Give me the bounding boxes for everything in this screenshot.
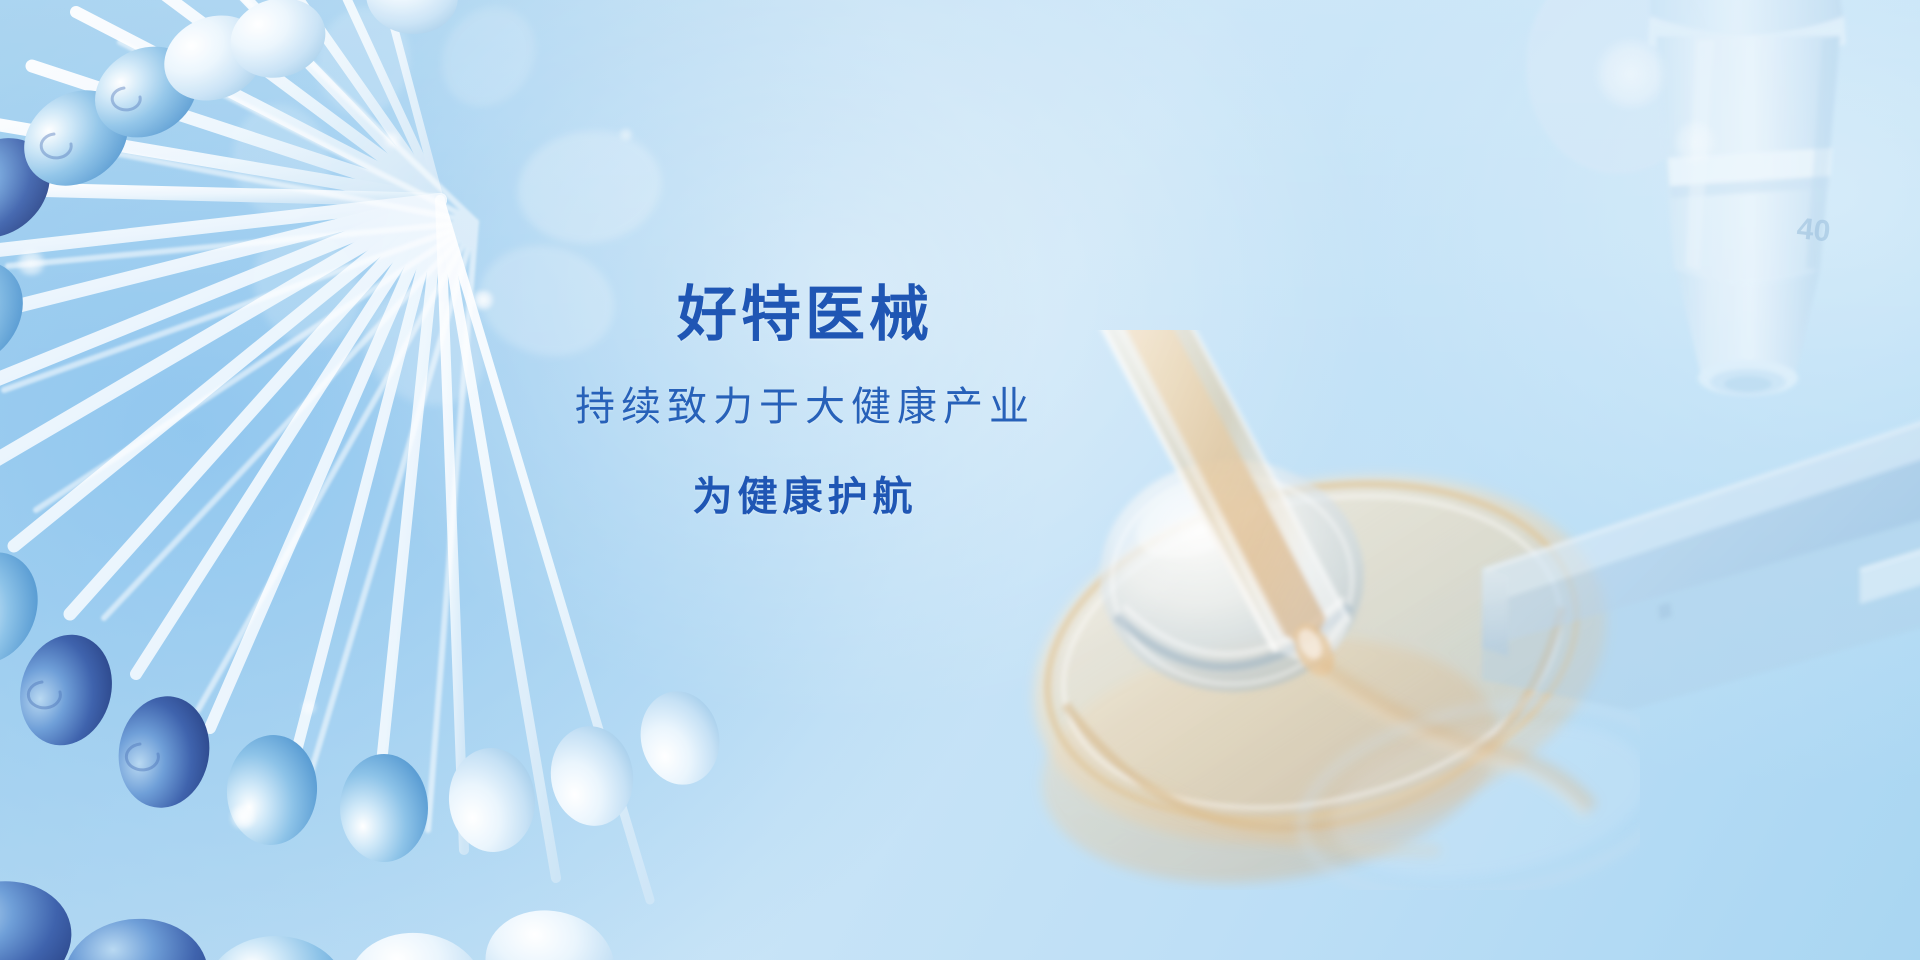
hero-text-block: 好特医械 持续致力于大健康产业 为健康护航 <box>0 280 1610 521</box>
dna-helix-icon <box>0 0 880 960</box>
hero-banner: 40 <box>0 0 1920 960</box>
light-wash-overlay <box>0 0 1920 960</box>
lab-stage-icon <box>1390 380 1920 850</box>
hero-tagline: 为健康护航 <box>0 473 1610 521</box>
bokeh-dot <box>470 290 496 310</box>
bokeh-dot <box>382 132 402 148</box>
bokeh-layer <box>0 0 1920 960</box>
microscope-icon: 40 <box>1500 0 1920 470</box>
hero-subtitle: 持续致力于大健康产业 <box>0 383 1610 431</box>
bokeh-dot <box>618 128 634 141</box>
page-title: 好特医械 <box>0 280 1610 349</box>
bokeh-dot <box>1592 38 1670 110</box>
bokeh-dot <box>1672 120 1718 164</box>
bokeh-dot <box>228 805 258 829</box>
bokeh-dot <box>300 700 318 715</box>
microscope-magnification-label: 40 <box>1795 212 1832 248</box>
glassware-icon <box>1020 330 1640 890</box>
bokeh-dot <box>14 250 48 276</box>
